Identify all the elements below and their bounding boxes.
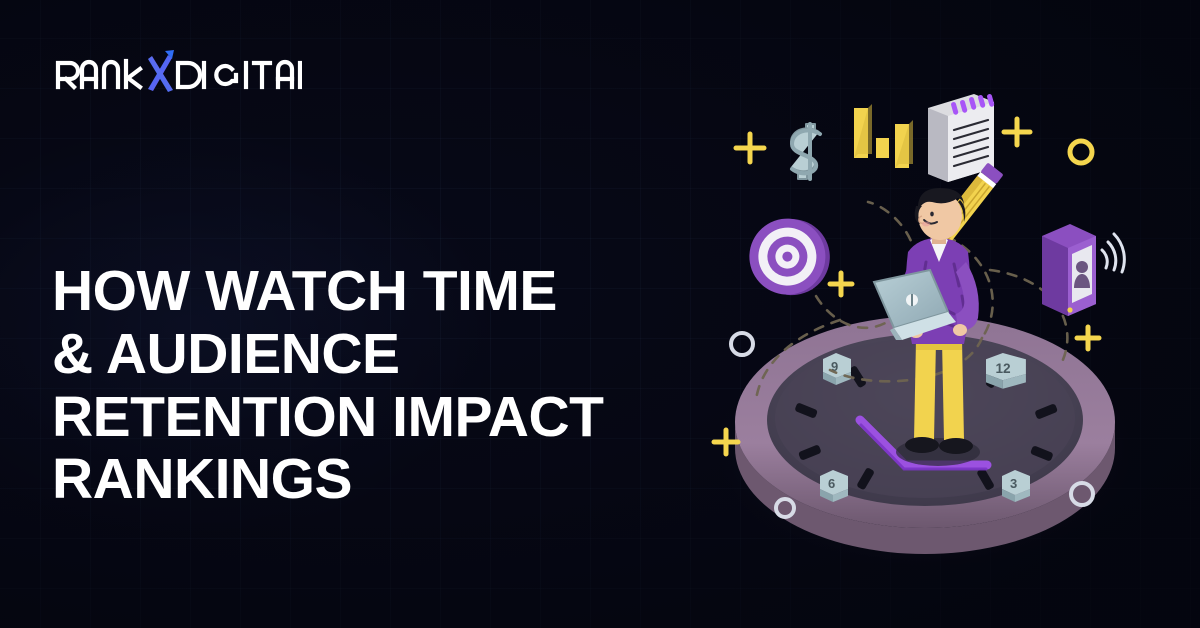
clock-numeral-12: 12 bbox=[986, 353, 1026, 389]
banner-canvas: HOW WATCH TIME & AUDIENCE RETENTION IMPA… bbox=[0, 0, 1200, 628]
bar-chart-icon bbox=[854, 104, 913, 168]
logo-x-accent bbox=[148, 50, 174, 92]
svg-text:3: 3 bbox=[1010, 476, 1017, 491]
headline-line-3: RETENTION IMPACT bbox=[52, 386, 712, 449]
illustration-art: 12 3 6 9 bbox=[690, 70, 1160, 590]
headline-line-2: & AUDIENCE bbox=[52, 323, 712, 386]
clock-numeral-6: 6 bbox=[820, 470, 848, 502]
headline-line-4: RANKINGS bbox=[52, 448, 712, 511]
logo-mark bbox=[52, 47, 302, 93]
svg-text:6: 6 bbox=[828, 476, 835, 491]
signal-waves-icon bbox=[1102, 234, 1124, 272]
logo[interactable] bbox=[52, 46, 302, 94]
illustration: 12 3 6 9 bbox=[690, 70, 1160, 590]
svg-text:12: 12 bbox=[995, 361, 1011, 376]
dollar-sign-icon bbox=[791, 124, 820, 179]
headline-line-1: HOW WATCH TIME bbox=[52, 260, 712, 323]
clock-numeral-9: 9 bbox=[823, 353, 851, 385]
clock-numeral-3: 3 bbox=[1002, 470, 1030, 502]
smartphone-user-icon bbox=[1042, 224, 1124, 316]
target-bullseye-icon bbox=[739, 207, 841, 308]
page-title: HOW WATCH TIME & AUDIENCE RETENTION IMPA… bbox=[52, 260, 712, 511]
